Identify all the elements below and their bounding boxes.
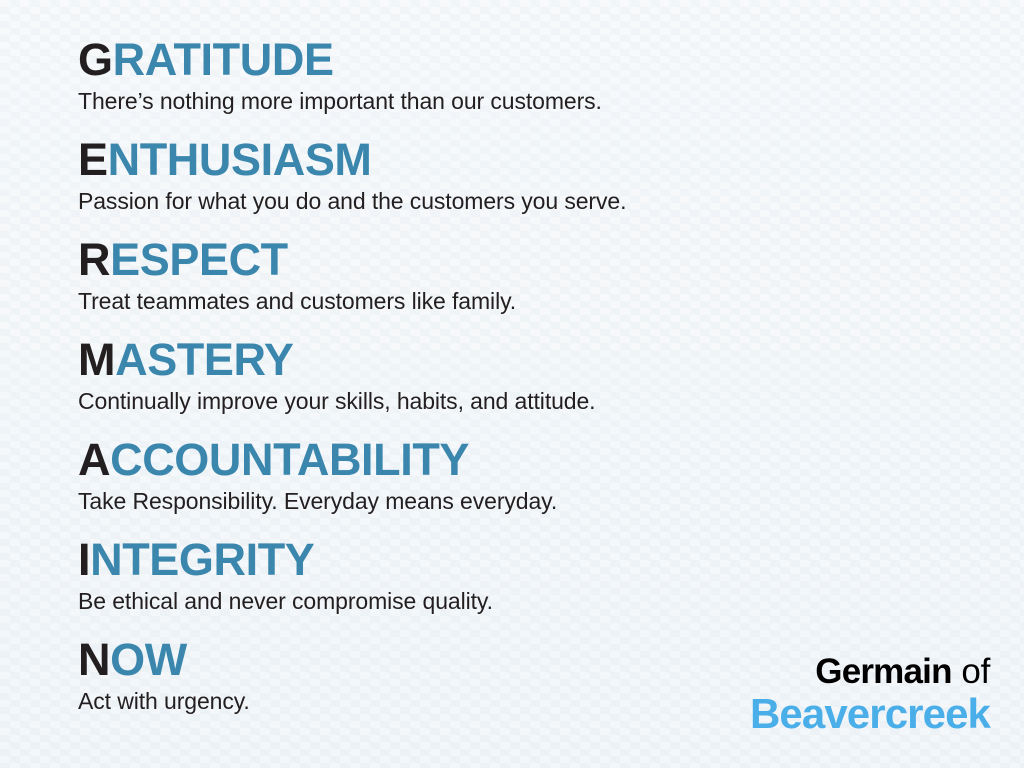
logo-brand-name: Germain [815, 652, 951, 691]
value-entry-respect: RESPECT Treat teammates and customers li… [78, 236, 958, 336]
value-entry-integrity: INTEGRITY Be ethical and never compromis… [78, 536, 958, 636]
value-initial-letter: I [78, 534, 90, 585]
value-heading-integrity: INTEGRITY [78, 536, 958, 584]
value-remaining-letters: OW [110, 634, 187, 685]
logo-connector-word: of [961, 652, 990, 691]
logo-location-name: Beavercreek [750, 692, 990, 736]
value-initial-letter: A [78, 434, 110, 485]
value-remaining-letters: NTHUSIASM [108, 134, 372, 185]
value-description-gratitude: There’s nothing more important than our … [78, 86, 958, 116]
dealership-logo: Germain of Beavercreek [750, 652, 990, 736]
value-heading-gratitude: GRATITUDE [78, 36, 958, 84]
value-heading-respect: RESPECT [78, 236, 958, 284]
value-entry-mastery: MASTERY Continually improve your skills,… [78, 336, 958, 436]
value-entry-accountability: ACCOUNTABILITY Take Responsibility. Ever… [78, 436, 958, 536]
value-remaining-letters: ASTERY [115, 334, 293, 385]
value-remaining-letters: CCOUNTABILITY [110, 434, 469, 485]
logo-top-line: Germain of [750, 652, 990, 692]
value-description-integrity: Be ethical and never compromise quality. [78, 586, 958, 616]
value-description-mastery: Continually improve your skills, habits,… [78, 386, 958, 416]
value-remaining-letters: RATITUDE [113, 34, 334, 85]
values-poster: GRATITUDE There’s nothing more important… [0, 0, 1024, 768]
value-initial-letter: M [78, 334, 115, 385]
value-heading-mastery: MASTERY [78, 336, 958, 384]
value-description-accountability: Take Responsibility. Everyday means ever… [78, 486, 958, 516]
core-values-list: GRATITUDE There’s nothing more important… [78, 36, 958, 736]
value-description-enthusiasm: Passion for what you do and the customer… [78, 186, 958, 216]
value-remaining-letters: NTEGRITY [90, 534, 314, 585]
value-remaining-letters: ESPECT [110, 234, 288, 285]
value-heading-accountability: ACCOUNTABILITY [78, 436, 958, 484]
value-heading-enthusiasm: ENTHUSIASM [78, 136, 958, 184]
value-initial-letter: R [78, 234, 110, 285]
value-entry-enthusiasm: ENTHUSIASM Passion for what you do and t… [78, 136, 958, 236]
value-description-respect: Treat teammates and customers like famil… [78, 286, 958, 316]
value-initial-letter: E [78, 134, 108, 185]
value-initial-letter: G [78, 34, 113, 85]
value-entry-gratitude: GRATITUDE There’s nothing more important… [78, 36, 958, 136]
value-initial-letter: N [78, 634, 110, 685]
